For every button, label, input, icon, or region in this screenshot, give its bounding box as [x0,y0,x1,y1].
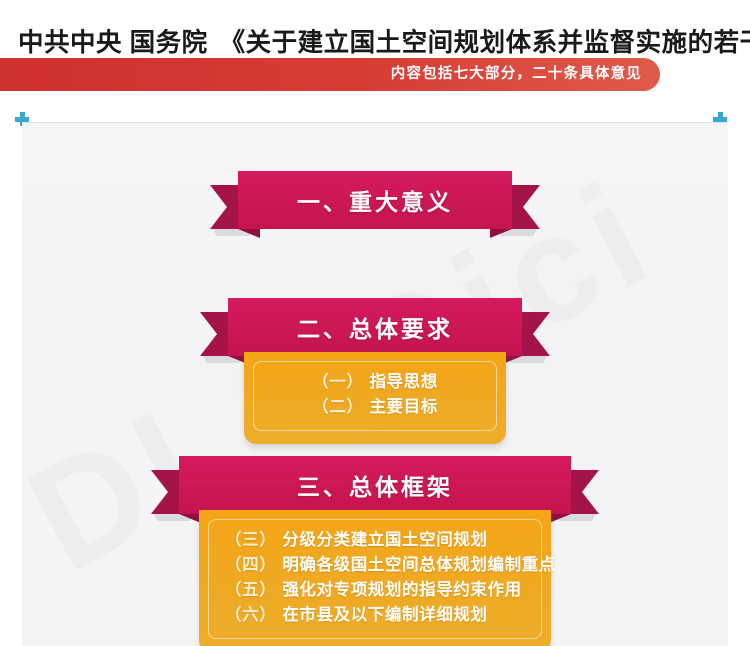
page-title: 中共中央 国务院《关于建立国土空间规划体系并监督实施的若干意见》 [18,22,750,59]
subbox-item-list-3: （三）分级分类建立国土空间规划 （四）明确各级国土空间总体规划编制重点 （五）强… [225,528,556,628]
section-block-3: 三、总体框架 （三）分级分类建立国土空间规划 （四）明确各级国土空间总体规划编制… [52,456,698,646]
list-item-label: 主要目标 [369,398,437,416]
section-ribbon-3: 三、总体框架 [151,456,599,514]
ribbon-body-1: 一、重大意义 [238,171,512,229]
list-item-number: （一） [312,373,363,391]
page-header: 中共中央 国务院《关于建立国土空间规划体系并监督实施的若干意见》 内容包括七大部… [0,0,750,96]
section-subbox-wrap-2: （一）指导思想 （二）主要目标 [244,352,506,444]
list-item-label: 分级分类建立国土空间规划 [282,531,487,549]
list-item: （四）明确各级国土空间总体规划编制重点 [225,553,556,578]
section-subbox-wrap-3: （三）分级分类建立国土空间规划 （四）明确各级国土空间总体规划编制重点 （五）强… [199,510,551,646]
subtitle-text: 内容包括七大部分，二十条具体意见 [391,58,642,91]
section-block-1: 一、重大意义 [52,171,698,229]
list-item: （五）强化对专项规划的指导约束作用 [225,578,556,603]
list-item-number: （五） [225,581,276,599]
ribbon-body-3: 三、总体框架 [179,456,571,514]
list-item-number: （二） [312,398,363,416]
subtitle-bar: 内容包括七大部分，二十条具体意见 [0,58,660,91]
content-panel: DI Dici 一、重大意义 [22,122,728,646]
list-item: （一）指导思想 [312,370,438,395]
list-item: （三）分级分类建立国土空间规划 [225,528,556,553]
document-title: 《关于建立国土空间规划体系并监督实施的若干意见》 [220,29,750,57]
section-subbox-3: （三）分级分类建立国土空间规划 （四）明确各级国土空间总体规划编制重点 （五）强… [199,510,551,646]
infographic-page: 中共中央 国务院《关于建立国土空间规划体系并监督实施的若干意见》 内容包括七大部… [0,0,750,646]
list-item: （二）主要目标 [312,395,438,420]
ribbon-body-2: 二、总体要求 [228,298,522,356]
list-item-label: 在市县及以下编制详细规划 [282,606,487,624]
list-item-number: （六） [225,606,276,624]
list-item-number: （三） [225,531,276,549]
list-item-number: （四） [225,556,276,574]
section-heading-1: 一、重大意义 [297,183,453,217]
section-subbox-2: （一）指导思想 （二）主要目标 [244,352,506,444]
subbox-item-list-2: （一）指导思想 （二）主要目标 [270,370,480,420]
list-item-label: 明确各级国土空间总体规划编制重点 [282,556,556,574]
list-item-label: 指导思想 [369,373,437,391]
section-ribbon-1: 一、重大意义 [210,171,540,229]
issuing-organization: 中共中央 国务院 [18,29,208,57]
section-heading-3: 三、总体框架 [297,468,453,502]
section-ribbon-2: 二、总体要求 [200,298,550,356]
list-item: （六）在市县及以下编制详细规划 [225,603,556,628]
list-item-label: 强化对专项规划的指导约束作用 [282,581,521,599]
section-block-2: 二、总体要求 （一）指导思想 （二）主要目标 [52,298,698,444]
section-heading-2: 二、总体要求 [297,310,453,344]
